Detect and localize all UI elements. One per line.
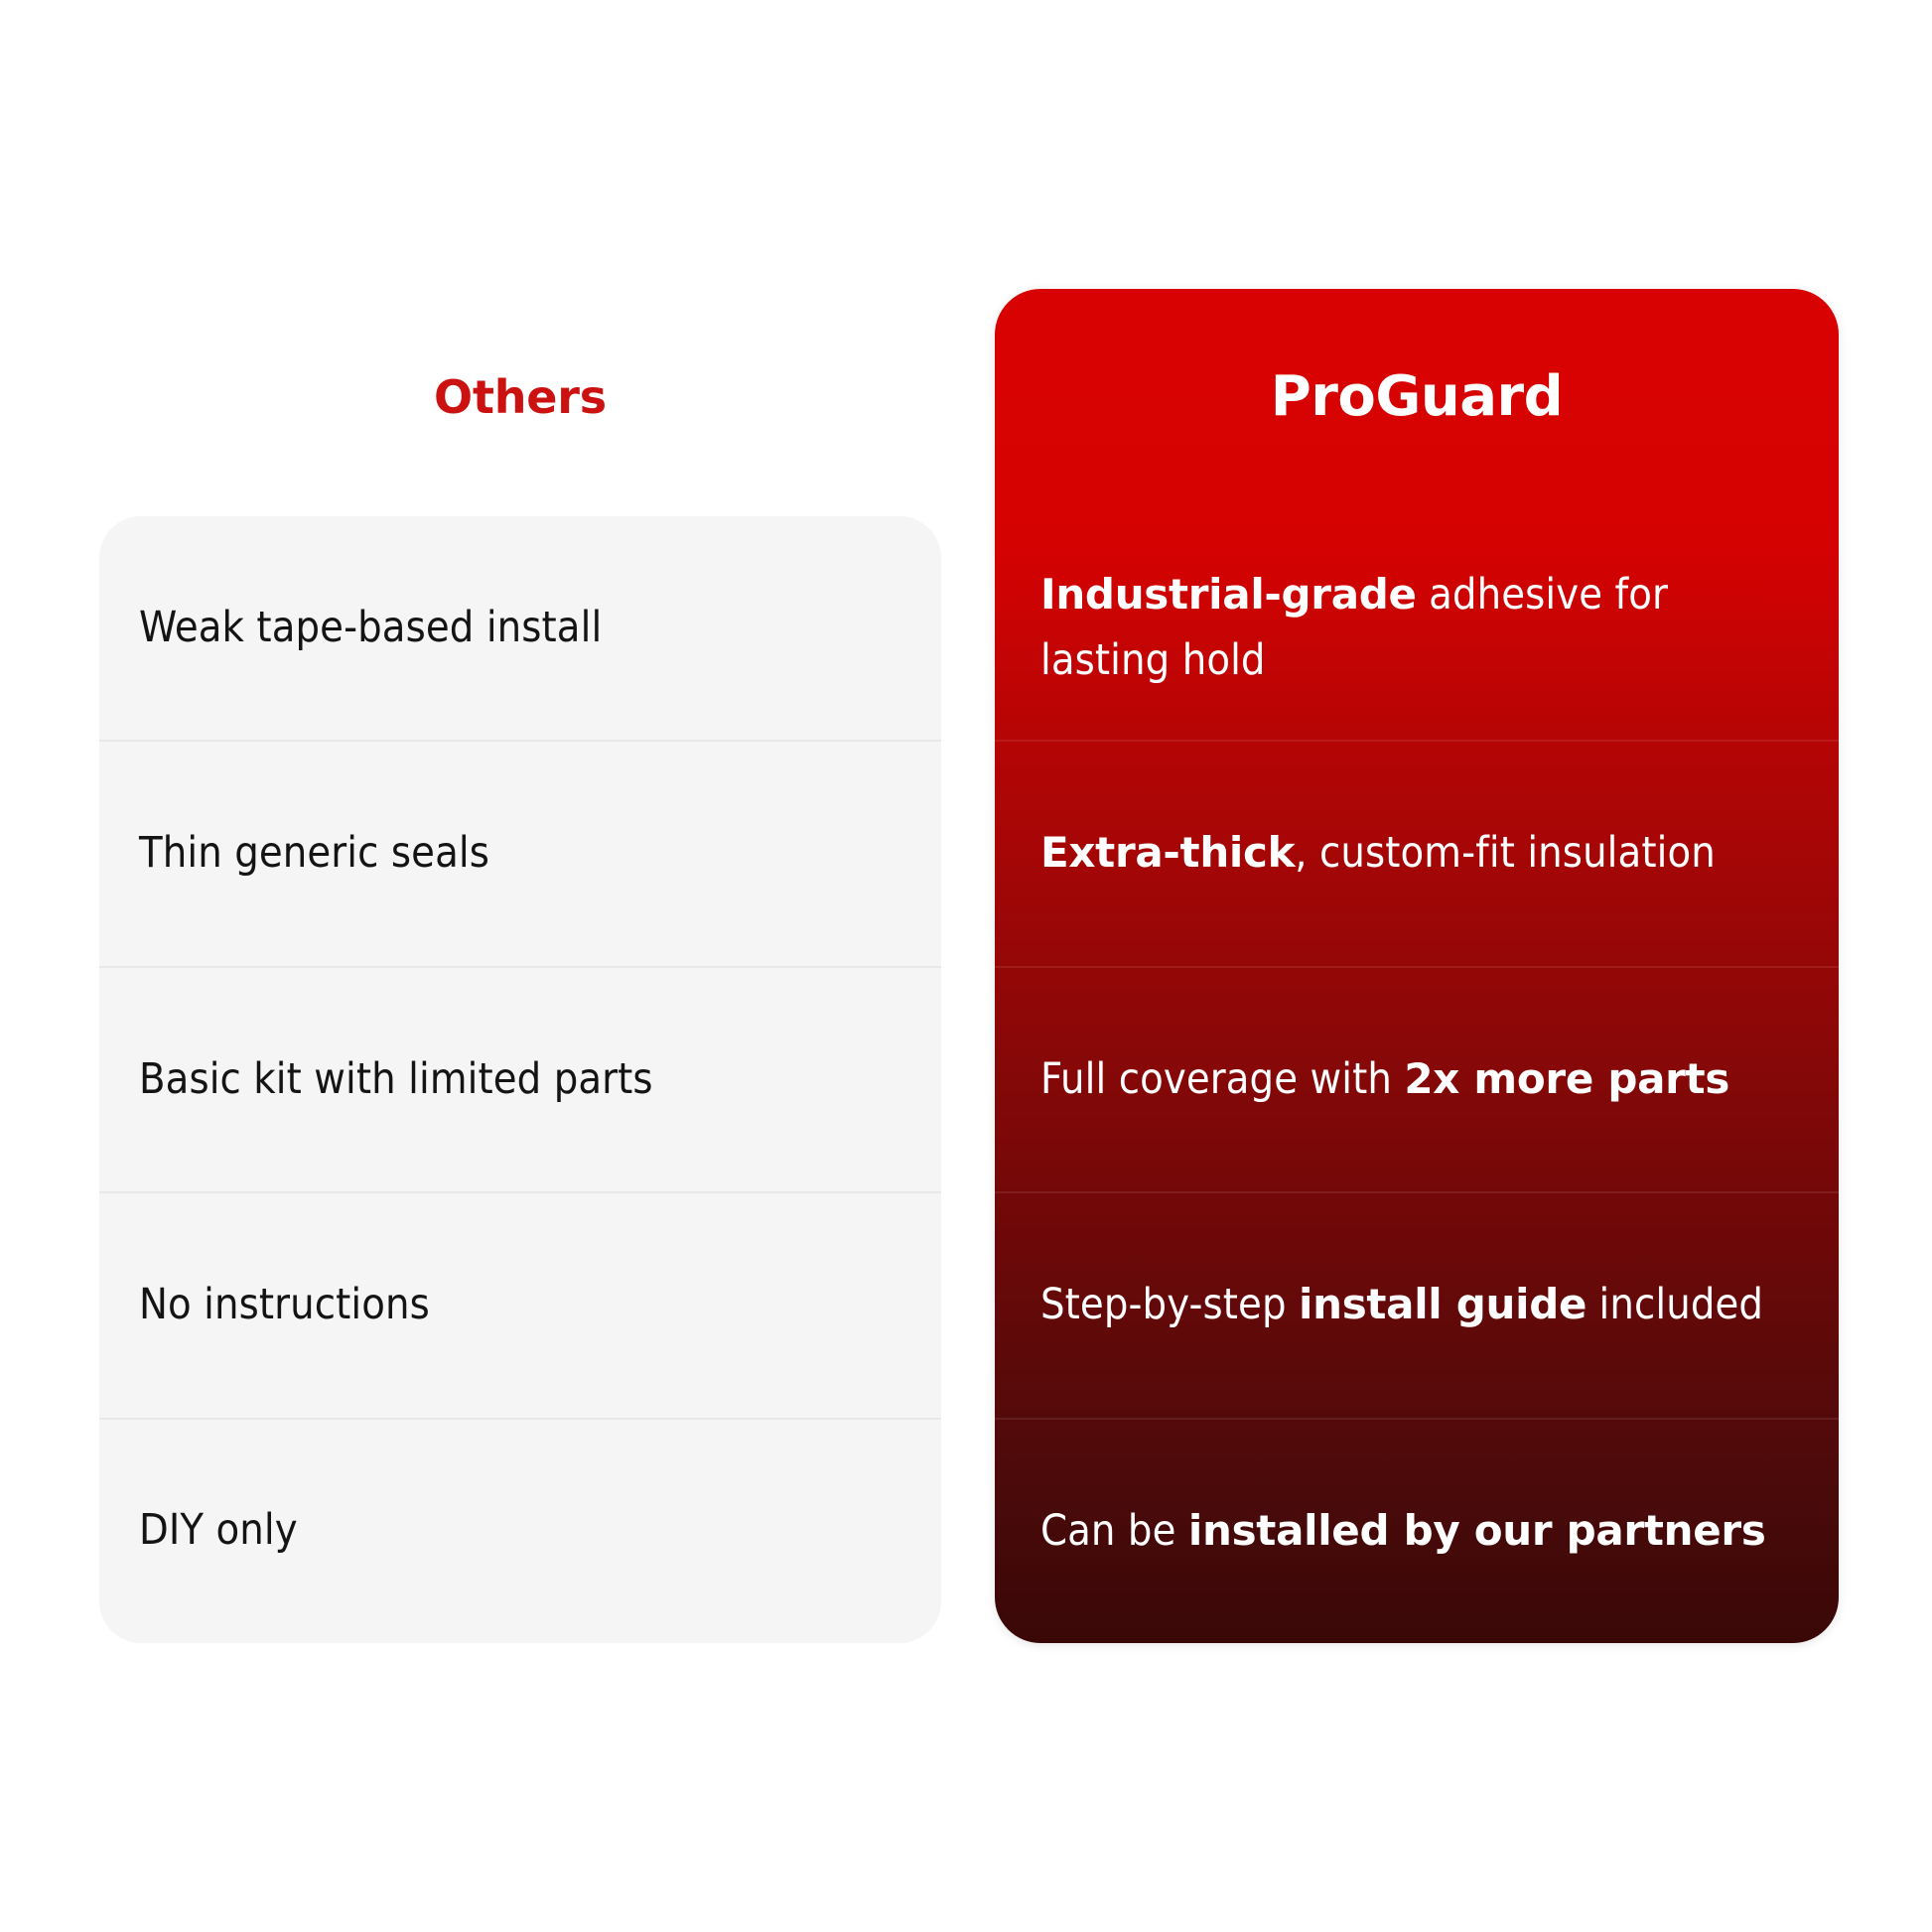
others-column-title: Others (99, 374, 941, 420)
proguard-row-label: Can be installed by our partners (1040, 1499, 1766, 1564)
proguard-column-title: ProGuard (1271, 369, 1563, 425)
others-row-label: Weak tape-based install (139, 602, 602, 655)
proguard-row-label: Extra-thick, custom-fit insulation (1040, 821, 1716, 886)
others-row-5: DIY only (99, 1420, 941, 1643)
proguard-row-label: Industrial-grade adhesive for lasting ho… (1040, 563, 1793, 693)
proguard-row-highlight: Industrial-grade (1040, 570, 1417, 619)
proguard-row-2: Extra-thick, custom-fit insulation (995, 742, 1839, 967)
others-row-2: Thin generic seals (99, 742, 941, 967)
proguard-card: ProGuard Industrial-grade adhesive for l… (995, 289, 1839, 1643)
others-row-4: No instructions (99, 1193, 941, 1419)
others-row-label: No instructions (139, 1279, 430, 1332)
proguard-row-label: Full coverage with 2x more parts (1040, 1047, 1729, 1112)
others-row-1: Weak tape-based install (99, 516, 941, 742)
proguard-row-5: Can be installed by our partners (995, 1420, 1839, 1643)
others-column: Others Weak tape-based install Thin gene… (99, 289, 941, 1643)
proguard-row-post: , custom-fit insulation (1295, 828, 1716, 878)
proguard-row-pre: Full coverage with (1040, 1054, 1404, 1104)
others-row-label: Basic kit with limited parts (139, 1053, 653, 1107)
proguard-row-highlight: installed by our partners (1188, 1506, 1766, 1555)
others-card: Weak tape-based install Thin generic sea… (99, 516, 941, 1643)
proguard-row-3: Full coverage with 2x more parts (995, 968, 1839, 1193)
proguard-row-highlight: Extra-thick (1040, 828, 1295, 877)
proguard-row-highlight: 2x more parts (1404, 1054, 1729, 1103)
proguard-row-4: Step-by-step install guide included (995, 1193, 1839, 1419)
proguard-row-pre: Can be (1040, 1506, 1188, 1556)
others-row-label: DIY only (139, 1504, 298, 1558)
proguard-row-highlight: install guide (1299, 1280, 1587, 1328)
proguard-row-pre: Step-by-step (1040, 1280, 1299, 1329)
proguard-row-label: Step-by-step install guide included (1040, 1273, 1763, 1337)
proguard-row-post: included (1587, 1280, 1763, 1329)
proguard-card-header: ProGuard (995, 289, 1839, 516)
others-row-3: Basic kit with limited parts (99, 968, 941, 1193)
others-row-label: Thin generic seals (139, 827, 489, 881)
proguard-rows: Industrial-grade adhesive for lasting ho… (995, 516, 1839, 1643)
proguard-row-1: Industrial-grade adhesive for lasting ho… (995, 516, 1839, 742)
comparison-table: Others Weak tape-based install Thin gene… (0, 0, 1932, 1932)
